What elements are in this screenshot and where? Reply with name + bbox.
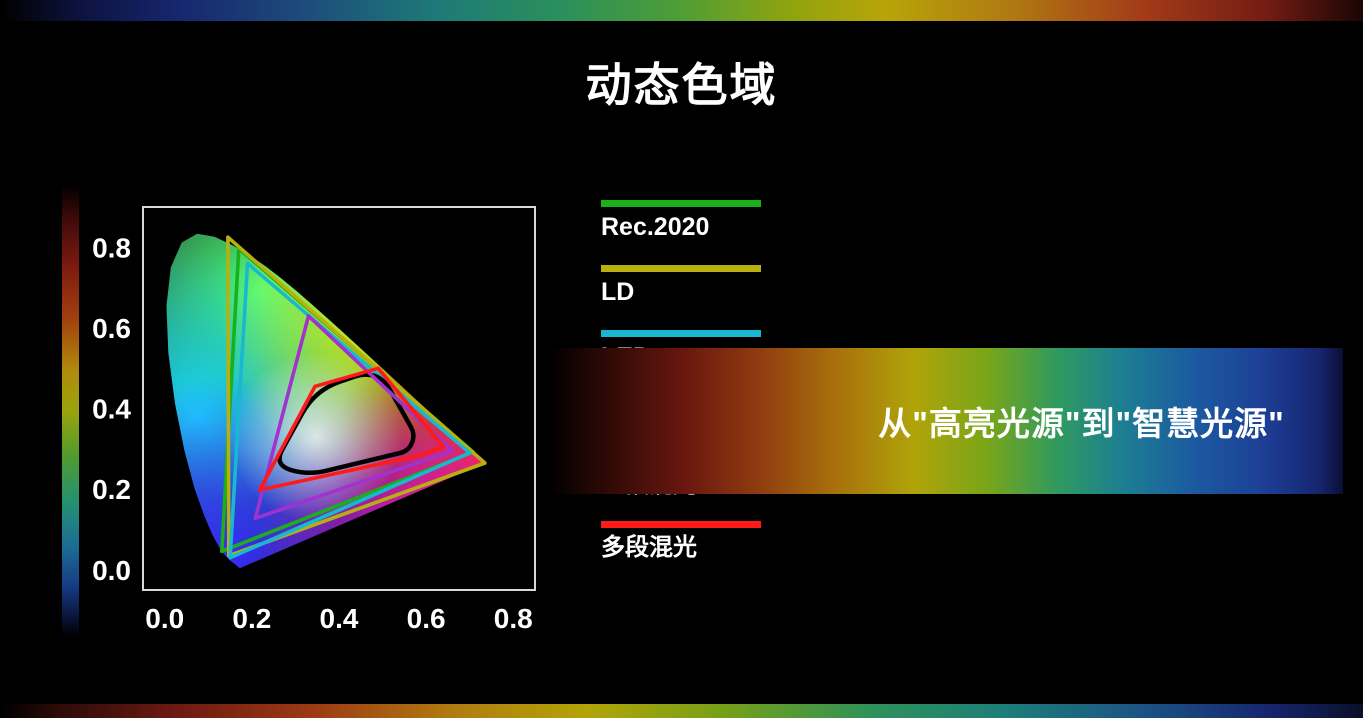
chart-svg: 0.00.20.40.60.8 0.00.20.40.60.8 xyxy=(88,196,558,646)
legend-swatch-icon xyxy=(601,521,761,528)
x-axis-tick-labels: 0.00.20.40.60.8 xyxy=(145,603,532,634)
legend-swatch-icon xyxy=(601,330,761,337)
legend-item-label: 多段混光 xyxy=(601,534,771,562)
x-tick-label: 0.2 xyxy=(232,603,271,634)
legend-item-rec2020[interactable]: Rec.2020 xyxy=(601,200,771,242)
legend-item-label: LD xyxy=(601,278,771,307)
y-tick-label: 0.6 xyxy=(92,313,131,344)
legend-item-ld[interactable]: LD xyxy=(601,265,771,307)
spectrum-strip-bottom xyxy=(0,704,1363,718)
legend-swatch-icon xyxy=(601,200,761,207)
tagline-banner: 从"高亮光源"到"智慧光源" xyxy=(550,348,1343,494)
spectrum-strip-top xyxy=(0,0,1363,21)
y-tick-label: 0.2 xyxy=(92,474,131,505)
cie-chromaticity-chart: 0.00.20.40.60.8 0.00.20.40.60.8 xyxy=(88,196,558,646)
y-tick-label: 0.0 xyxy=(92,555,131,586)
y-axis-tick-labels: 0.00.20.40.60.8 xyxy=(92,232,131,586)
y-tick-label: 0.8 xyxy=(92,232,131,263)
legend-swatch-icon xyxy=(601,265,761,272)
spectrum-strip-left xyxy=(62,185,79,637)
x-tick-label: 0.6 xyxy=(407,603,446,634)
legend-item-multi-segment-mixing[interactable]: 多段混光 xyxy=(601,521,771,562)
legend-item-label: Rec.2020 xyxy=(601,213,771,242)
tagline-text: 从"高亮光源"到"智慧光源" xyxy=(878,397,1285,445)
x-tick-label: 0.8 xyxy=(494,603,533,634)
x-tick-label: 0.0 xyxy=(145,603,184,634)
page-title: 动态色域 xyxy=(0,62,1363,108)
x-tick-label: 0.4 xyxy=(320,603,359,634)
y-tick-label: 0.4 xyxy=(92,394,131,425)
